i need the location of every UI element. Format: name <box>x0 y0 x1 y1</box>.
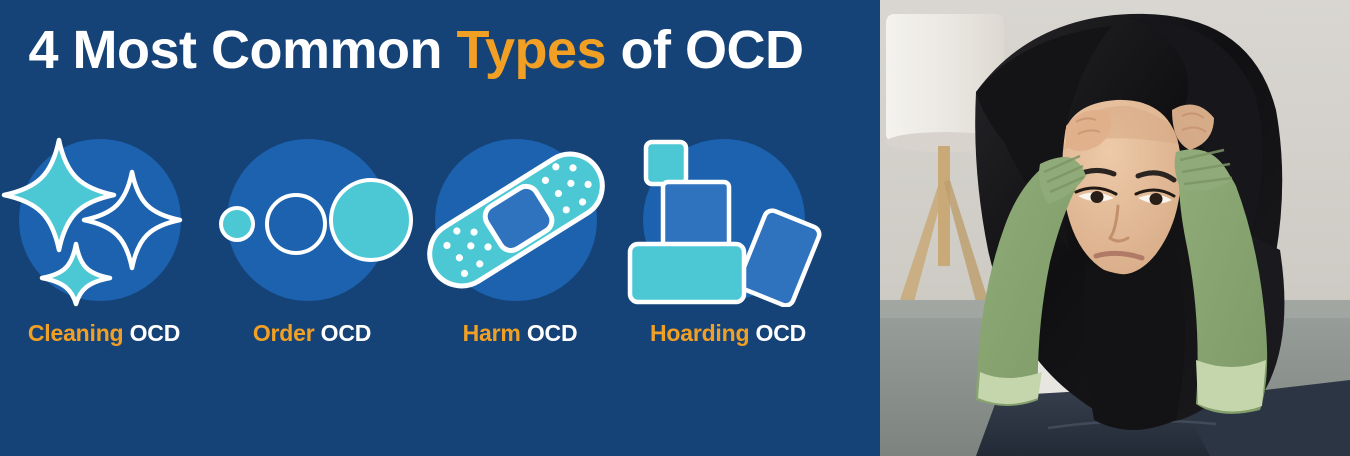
ocd-type-kind: Order <box>253 320 315 346</box>
page-title: 4 Most Common Types of OCD <box>0 18 832 83</box>
three-circles-icon <box>208 132 416 307</box>
ocd-type-kind: Hoarding <box>650 320 749 346</box>
ocd-type-label-hoarding: Hoarding OCD <box>624 320 832 347</box>
ocd-type-kind: Cleaning <box>28 320 124 346</box>
ocd-type-hoarding: Hoarding OCD <box>624 132 832 372</box>
ocd-type-order: Order OCD <box>208 132 416 372</box>
ocd-type-suffix: OCD <box>749 320 806 346</box>
distressed-woman-photo <box>880 0 1350 456</box>
title-accent-word: Types <box>456 20 606 80</box>
ocd-types-list: Cleaning OCD Order OCD <box>0 132 832 372</box>
ocd-types-banner: 4 Most Common Types of OCD <box>0 0 1350 456</box>
sparkles-icon <box>0 132 208 307</box>
ocd-type-suffix: OCD <box>521 320 578 346</box>
infographic-panel: 4 Most Common Types of OCD <box>0 0 880 456</box>
ocd-type-suffix: OCD <box>314 320 371 346</box>
ocd-type-harm: Harm OCD <box>416 132 624 372</box>
title-prefix: 4 Most Common <box>28 20 456 80</box>
ocd-type-cleaning: Cleaning OCD <box>0 132 208 372</box>
ocd-type-label-order: Order OCD <box>208 320 416 347</box>
stacked-boxes-icon <box>624 132 832 307</box>
ocd-type-label-harm: Harm OCD <box>416 320 624 347</box>
bandage-icon <box>416 132 624 307</box>
title-suffix: of OCD <box>606 20 803 80</box>
ocd-type-suffix: OCD <box>123 320 180 346</box>
ocd-type-kind: Harm <box>463 320 521 346</box>
ocd-type-label-cleaning: Cleaning OCD <box>0 320 208 347</box>
